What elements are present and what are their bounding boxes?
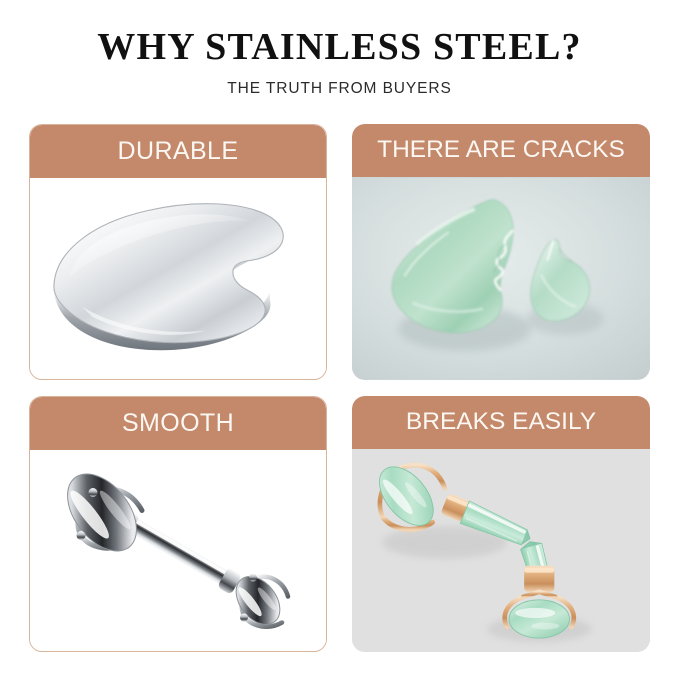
- card-header-label: SMOOTH: [122, 411, 234, 436]
- card-header-label: THERE ARE CRACKS: [377, 138, 625, 163]
- card-body-breaks-easily: [352, 449, 650, 652]
- card-header-there-are-cracks: THERE ARE CRACKS: [352, 124, 650, 177]
- stainless-steel-gua-sha-photo: [30, 178, 326, 379]
- card-body-durable: [30, 178, 326, 379]
- card-durable: DURABLE: [29, 124, 327, 380]
- card-body-there-are-cracks: [352, 177, 650, 380]
- stainless-steel-face-roller-photo: [30, 450, 326, 651]
- broken-jade-roller-photo: [352, 449, 650, 652]
- card-header-smooth: SMOOTH: [30, 397, 326, 450]
- comparison-card-grid: DURABLE: [29, 124, 650, 652]
- infographic-page: WHY STAINLESS STEEL? THE TRUTH FROM BUYE…: [0, 0, 679, 679]
- card-header-durable: DURABLE: [30, 125, 326, 178]
- card-header-breaks-easily: BREAKS EASILY: [352, 396, 650, 449]
- cracked-jade-gua-sha-photo: [352, 177, 650, 380]
- page-subtitle: THE TRUTH FROM BUYERS: [0, 80, 679, 98]
- card-header-label: BREAKS EASILY: [406, 410, 596, 435]
- heading-block: WHY STAINLESS STEEL? THE TRUTH FROM BUYE…: [0, 28, 679, 98]
- card-smooth: SMOOTH: [29, 396, 327, 652]
- card-header-label: DURABLE: [118, 139, 239, 164]
- card-breaks-easily: BREAKS EASILY: [352, 396, 650, 652]
- card-body-smooth: [30, 450, 326, 651]
- page-title: WHY STAINLESS STEEL?: [0, 28, 679, 68]
- card-there-are-cracks: THERE ARE CRACKS: [352, 124, 650, 380]
